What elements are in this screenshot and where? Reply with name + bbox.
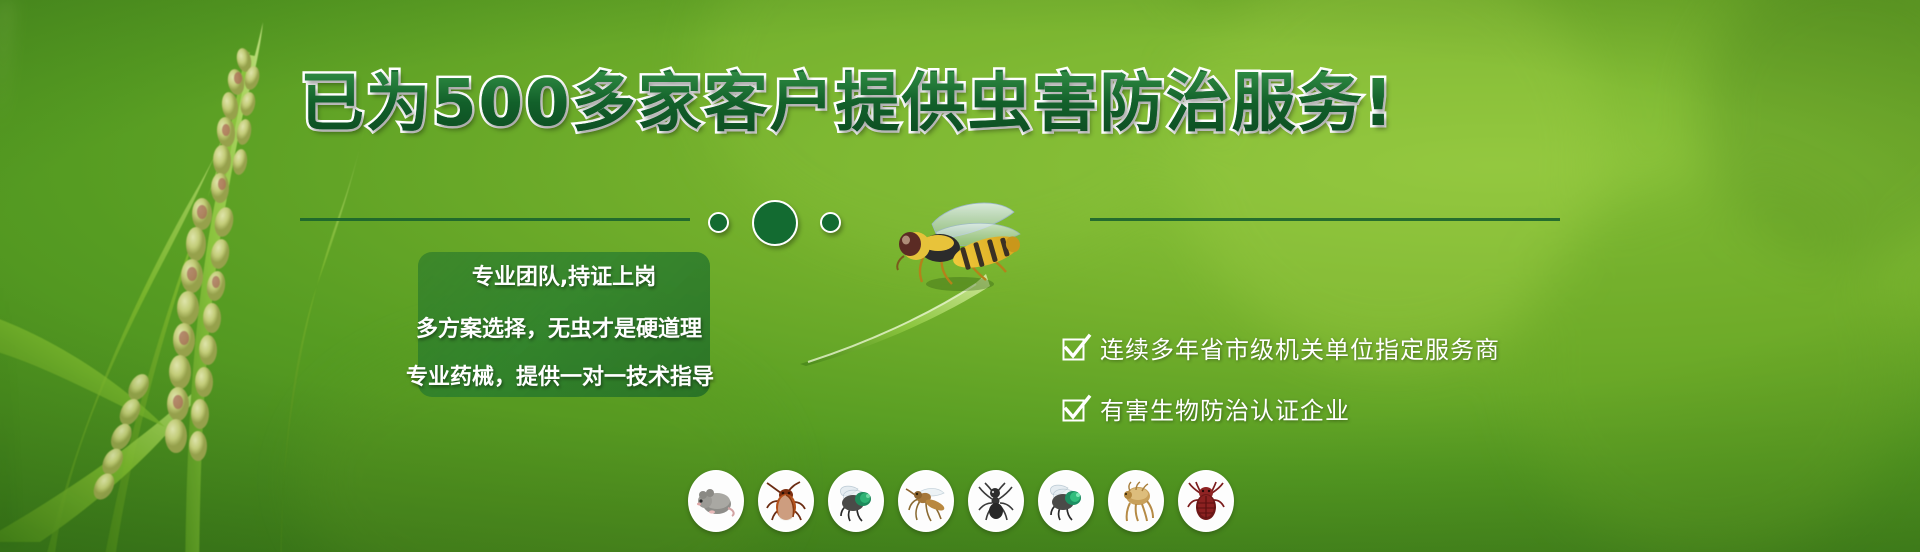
fly-icon — [828, 470, 884, 532]
bullet-item: 连续多年省市级机关单位指定服务商 — [1062, 330, 1500, 365]
divider-dot-large — [752, 200, 798, 246]
pest-type-icon-row — [688, 470, 1234, 532]
selling-points-list: 专业团队,持证上岗 多方案选择，无虫才是硬道理 专业药械，提供一对一技术指导 — [418, 252, 710, 397]
selling-point-3: 专业药械，提供一对一技术指导 — [406, 353, 706, 397]
bullet-label: 连续多年省市级机关单位指定服务商 — [1100, 330, 1500, 365]
ant-icon — [968, 470, 1024, 532]
selling-point-2: 多方案选择，无虫才是硬道理 — [412, 305, 706, 349]
bedbug-icon — [1178, 470, 1234, 532]
mosquito-icon — [898, 470, 954, 532]
hoverfly-icon — [800, 196, 1080, 366]
page-title: 已为500多家客户提供虫害防治服务! — [300, 72, 1395, 136]
bullet-item: 有害生物防治认证企业 — [1062, 391, 1500, 426]
checkbox-check-icon — [1062, 335, 1088, 361]
divider-line-right — [1090, 218, 1560, 221]
divider-line-left — [300, 218, 690, 221]
headline-block: 已为500多家客户提供虫害防治服务! 已为500多家客户提供虫害防治服务! — [300, 72, 1560, 152]
checkbox-check-icon — [1062, 396, 1088, 422]
flea-icon — [1108, 470, 1164, 532]
pest-control-banner: 已为500多家客户提供虫害防治服务! 已为500多家客户提供虫害防治服务! 专业… — [0, 0, 1920, 552]
greenfly-icon — [1038, 470, 1094, 532]
selling-point-1: 专业团队,持证上岗 — [422, 253, 706, 301]
certification-bullets: 连续多年省市级机关单位指定服务商 有害生物防治认证企业 — [1062, 330, 1500, 426]
cockroach-icon — [758, 470, 814, 532]
divider-dot-small-left — [708, 212, 729, 233]
rodent-icon — [688, 470, 744, 532]
bullet-label: 有害生物防治认证企业 — [1100, 391, 1350, 426]
